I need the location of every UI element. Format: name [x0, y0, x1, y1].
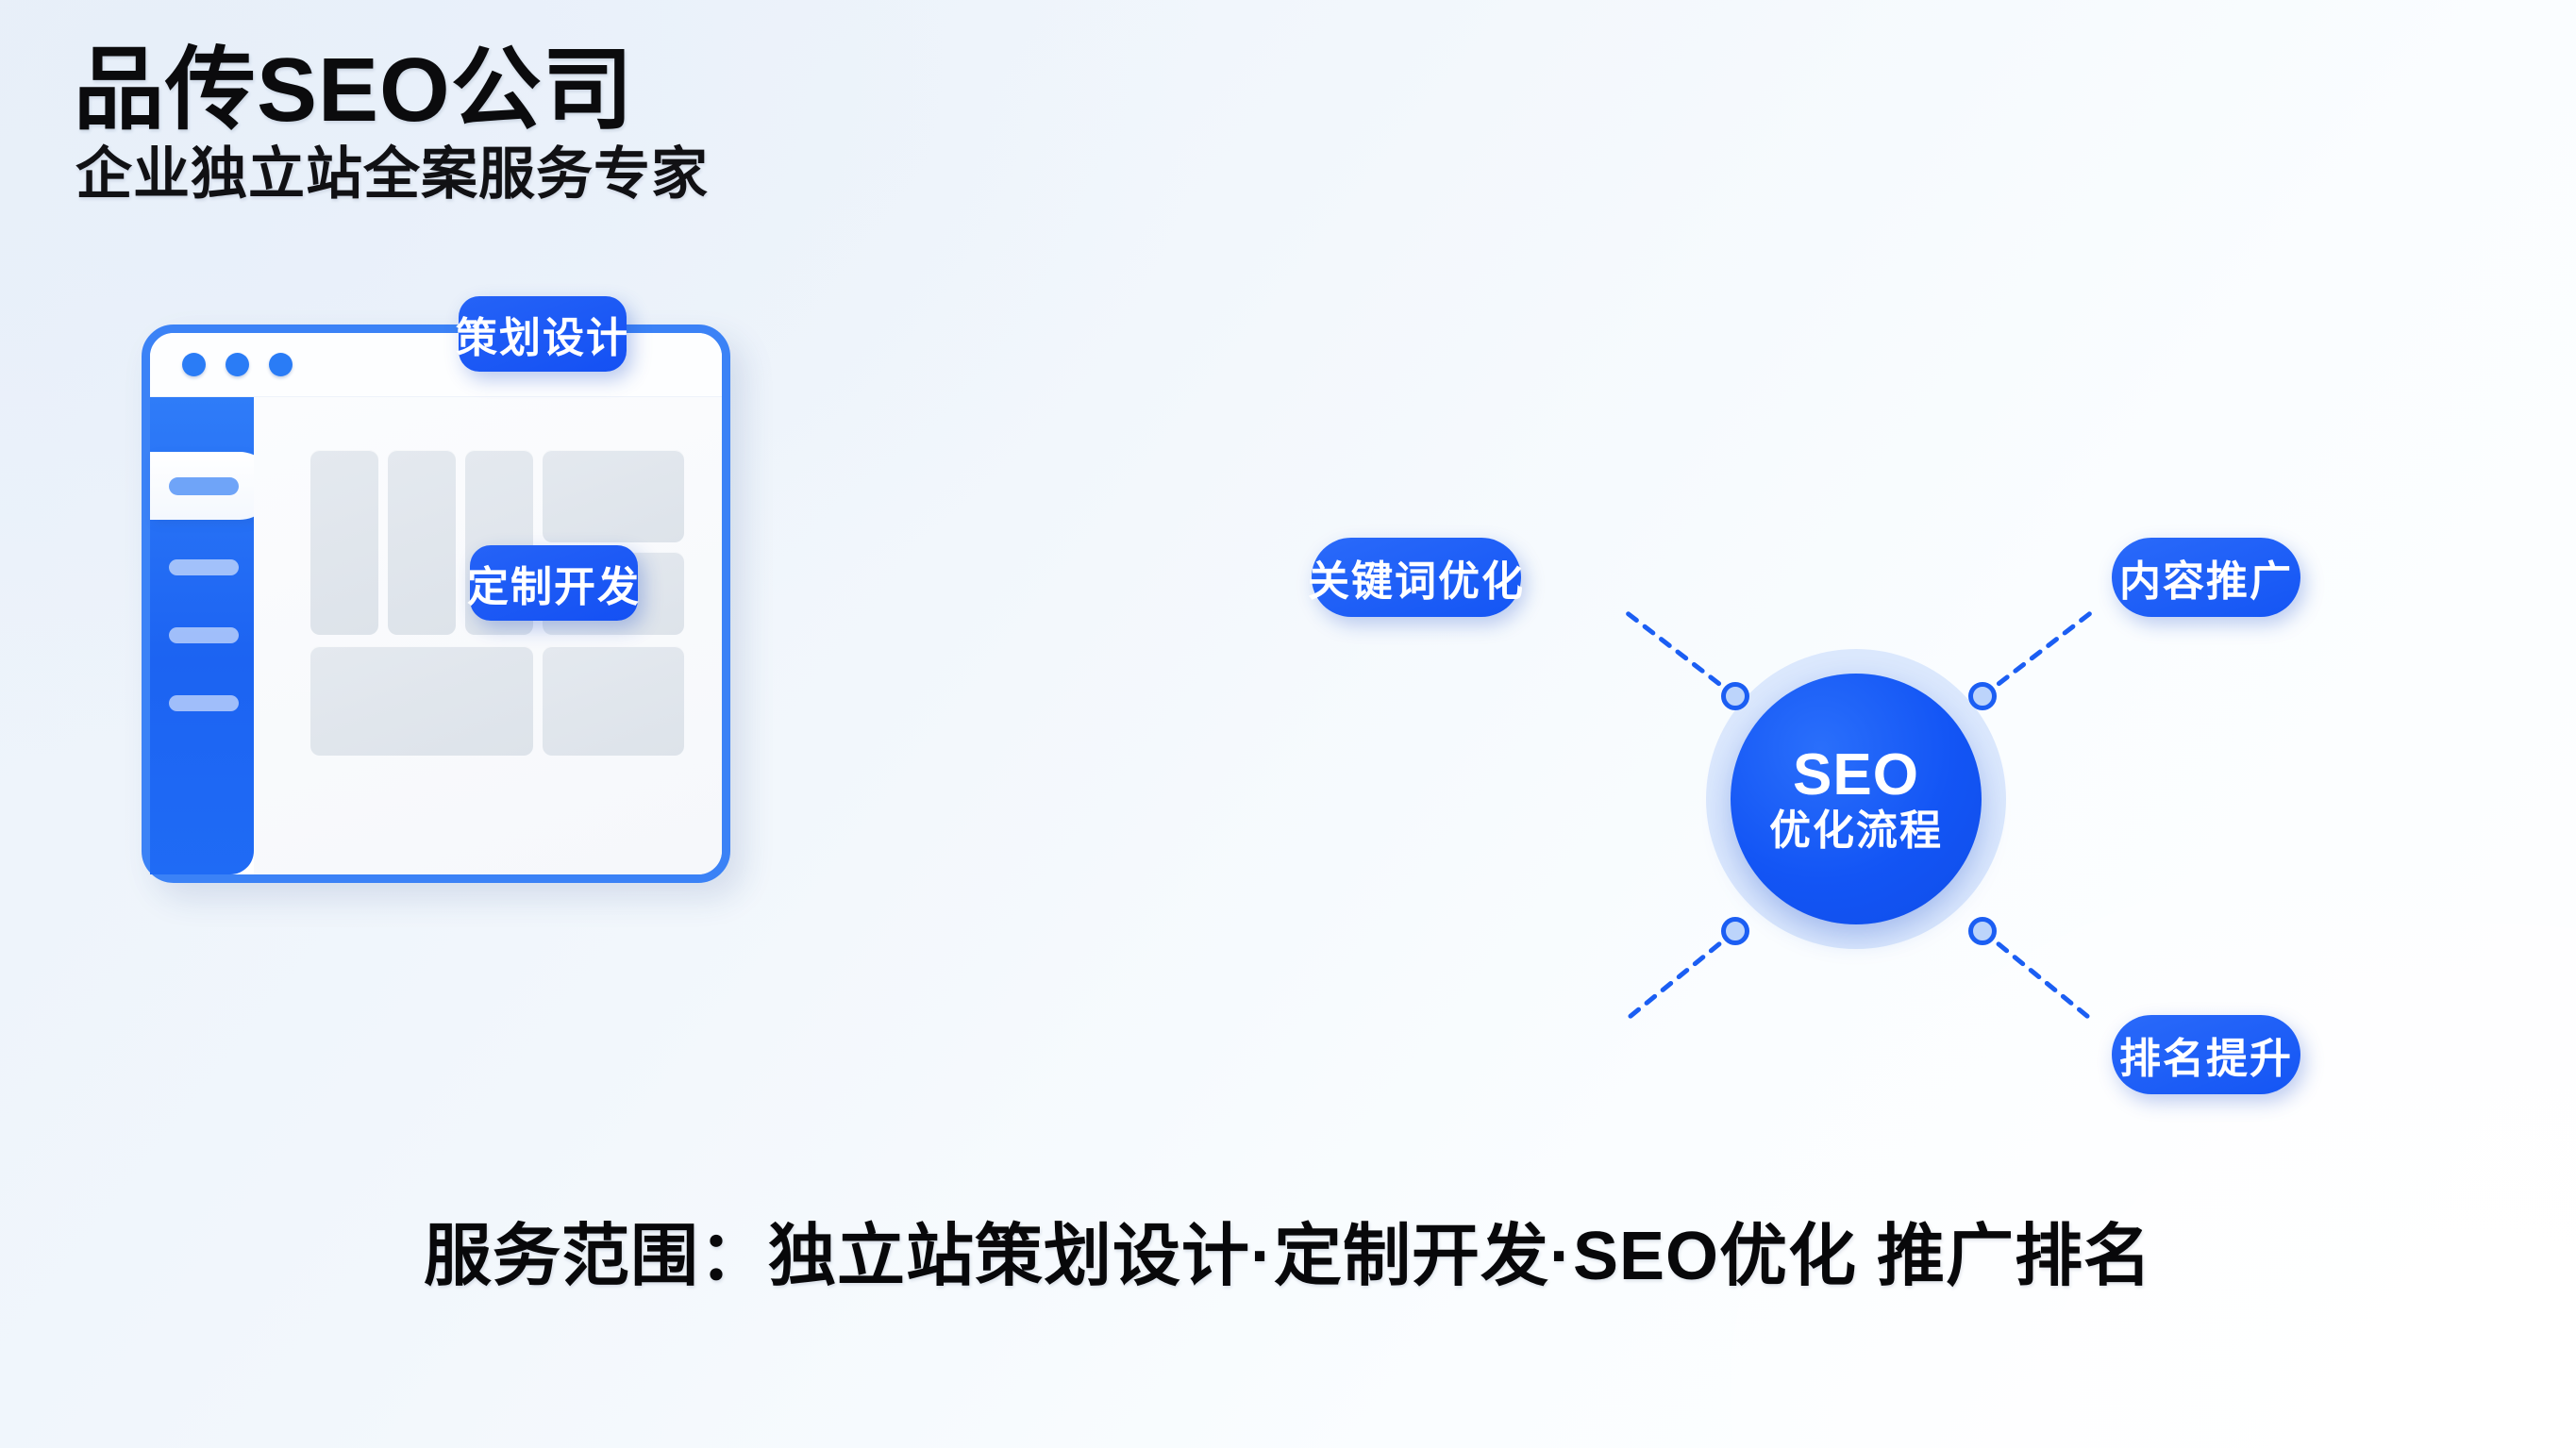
service-scope-footer: 服务范围：独立站策划设计·定制开发·SEO优化 推广排名	[0, 1200, 2576, 1299]
window-dot-close-icon	[182, 353, 206, 376]
sidebar-item-active-label	[169, 477, 239, 495]
sidebar-item-2[interactable]	[169, 627, 239, 643]
seo-core-circle: SEO 优化流程	[1731, 674, 1982, 924]
browser-window-frame	[142, 325, 730, 883]
seo-node-top-left[interactable]	[1721, 682, 1749, 710]
browser-mockup-illustration: 策划设计 定制开发	[253, 577, 864, 896]
browser-content-area	[254, 397, 722, 874]
sidebar-item-3[interactable]	[169, 695, 239, 711]
seo-pill-content-promotion[interactable]: 内容推广	[2112, 538, 2300, 617]
window-dot-maximize-icon	[269, 353, 293, 376]
content-card-bottom-wide	[310, 646, 533, 756]
seo-node-top-right[interactable]	[1968, 682, 1997, 710]
sidebar-item-1[interactable]	[169, 559, 239, 575]
content-card-column-1	[310, 450, 378, 635]
content-card-right-top	[543, 450, 684, 542]
seo-core-title: SEO	[1793, 746, 1919, 805]
badge-custom-development[interactable]: 定制开发	[470, 545, 638, 621]
seo-node-bottom-right[interactable]	[1968, 917, 1997, 945]
badge-planning-design[interactable]: 策划设计	[459, 296, 627, 372]
page-title: 品传SEO公司	[74, 43, 634, 139]
content-card-bottom-small	[543, 646, 684, 756]
browser-sidebar	[150, 397, 254, 874]
page-subtitle: 企业独立站全案服务专家	[75, 143, 709, 206]
seo-pill-keyword-optimization[interactable]: 关键词优化	[1312, 538, 1521, 617]
content-card-column-2	[388, 450, 456, 635]
seo-pill-ranking-improvement[interactable]: 排名提升	[2112, 1015, 2300, 1094]
browser-titlebar	[150, 333, 722, 397]
seo-node-bottom-left[interactable]	[1721, 917, 1749, 945]
seo-process-diagram: SEO 优化流程 关键词优化 内容推广 排名提升	[1321, 517, 2501, 1121]
seo-core-subtitle: 优化流程	[1769, 810, 1943, 852]
window-dot-minimize-icon	[226, 353, 249, 376]
